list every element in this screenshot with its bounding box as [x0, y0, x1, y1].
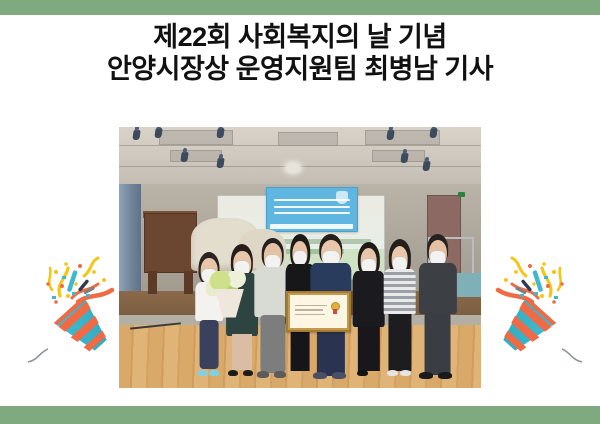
- title-line-2: 안양시장상 운영지원팀 최병남 기사: [0, 54, 600, 86]
- placard-text-line: [274, 212, 350, 214]
- legs: [424, 313, 451, 375]
- mic-stand: [130, 318, 181, 334]
- certificate-text-line: [295, 305, 327, 307]
- ceiling-panel: [278, 132, 338, 146]
- certificate-paper: [290, 295, 348, 328]
- ceiling-panel: [170, 150, 223, 161]
- shoe: [400, 370, 411, 377]
- spotlight: [386, 130, 394, 140]
- shoe: [228, 370, 238, 377]
- piano-leg: [148, 271, 157, 294]
- certificate-seal-icon: [332, 303, 339, 310]
- shoe: [257, 371, 269, 378]
- person-8: [416, 234, 459, 378]
- shoe: [419, 372, 433, 379]
- shoe: [438, 372, 452, 379]
- certificate-text-line: [295, 309, 323, 311]
- poster-canvas: 제22회 사회복지의 날 기념 안양시장상 운영지원팀 최병남 기사: [0, 0, 600, 424]
- stage-rail-post: [472, 237, 474, 279]
- held-placard: [266, 187, 359, 232]
- poster-title: 제22회 사회복지의 날 기념 안양시장상 운영지원팀 최병남 기사: [0, 22, 600, 86]
- shoe: [198, 370, 207, 376]
- shoe: [313, 372, 327, 379]
- striped-torso: [383, 269, 416, 315]
- ceiling-panel: [372, 150, 425, 161]
- shoe: [332, 372, 346, 379]
- shoe: [387, 370, 398, 377]
- placard-logo-strip: [270, 224, 353, 229]
- legs: [388, 314, 411, 371]
- placard-text-line: [274, 199, 350, 201]
- award-certificate: [286, 291, 352, 332]
- legs: [358, 326, 380, 371]
- placard-badge-icon: [336, 191, 348, 204]
- ceiling-panel: [365, 130, 439, 145]
- torso: [418, 263, 456, 315]
- piano: [144, 213, 197, 272]
- legs: [200, 320, 219, 369]
- title-line-1: 제22회 사회복지의 날 기념: [0, 22, 600, 54]
- shoe: [209, 370, 218, 376]
- party-popper-left: [22, 250, 132, 370]
- exit-sign: [458, 192, 465, 197]
- ceiling-light: [286, 164, 300, 172]
- person-7: [380, 239, 420, 375]
- bottom-green-band: [0, 406, 600, 424]
- certificate-text-line: [295, 314, 325, 316]
- party-popper-right: [478, 250, 588, 370]
- ceremony-photo: [119, 127, 481, 388]
- shoe: [357, 370, 368, 377]
- legs: [232, 334, 252, 369]
- placard-text-line: [274, 206, 350, 208]
- spotlight: [180, 152, 188, 162]
- top-green-band: [0, 0, 600, 15]
